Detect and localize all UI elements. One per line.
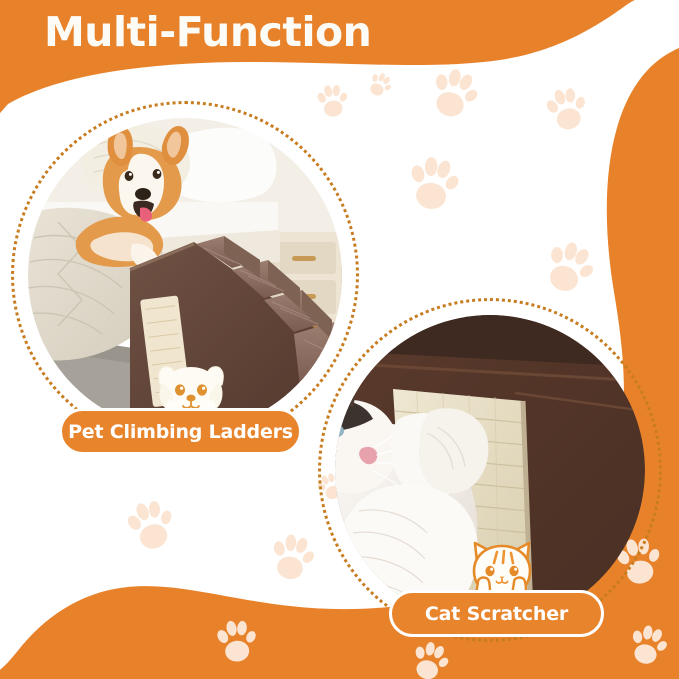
feature-badge-pet-climbing-ladders[interactable]: Pet Climbing Ladders (59, 408, 302, 455)
cat-face-icon (466, 538, 538, 594)
page-title: Multi-Function (44, 9, 371, 56)
feature-badge-label: Cat Scratcher (425, 603, 568, 625)
infographic-poster: Multi-Function (0, 0, 679, 679)
feature-badge-label: Pet Climbing Ladders (68, 421, 293, 443)
feature-badge-cat-scratcher[interactable]: Cat Scratcher (389, 590, 604, 637)
